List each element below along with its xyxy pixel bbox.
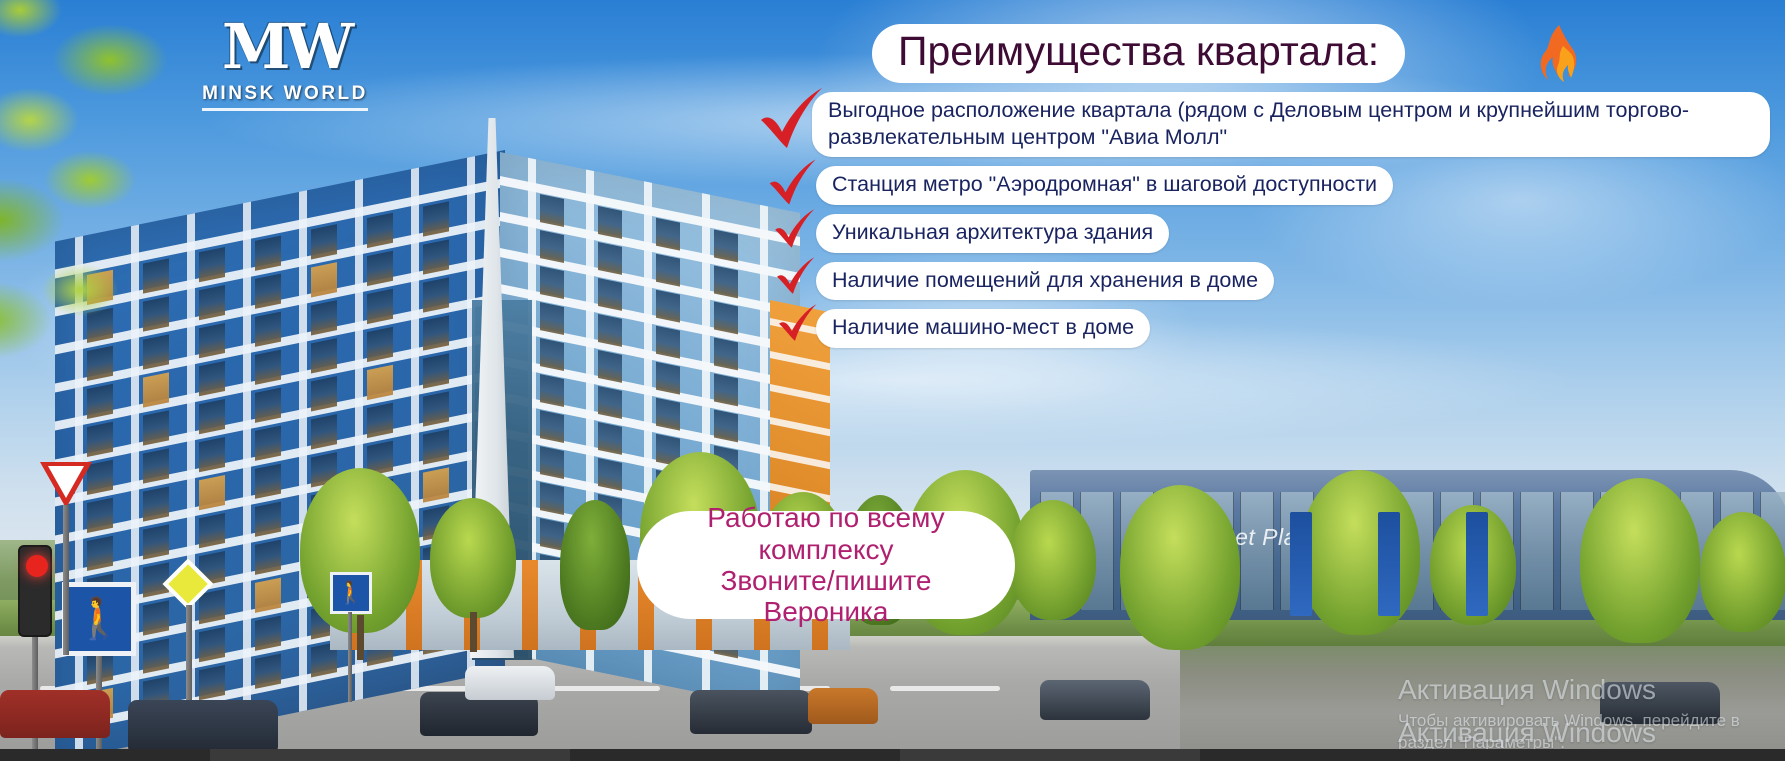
traffic-light (18, 545, 52, 637)
page-title: Преимущества квартала: (898, 28, 1379, 75)
bottom-edge-bar (0, 749, 1785, 761)
tree (1700, 512, 1785, 632)
tree (1300, 470, 1420, 635)
pedestrian-icon: 🚶 (337, 582, 364, 604)
checkmark-icon (774, 256, 818, 300)
road-marking (550, 686, 660, 691)
contact-card: Работаю по всему комплексу Звоните/пишит… (637, 511, 1015, 619)
contact-line-3: Вероника (764, 596, 889, 627)
bottom-bar-segment (900, 749, 1200, 761)
tree (560, 500, 630, 630)
list-item-label: Выгодное расположение квартала (рядом с … (812, 92, 1770, 157)
watermark-title: Активация Windows (1398, 672, 1785, 707)
car (465, 666, 555, 700)
watermark-title: Активация Windows (1398, 715, 1785, 750)
road-marking (890, 686, 1000, 691)
sign-pole (348, 612, 352, 702)
contact-line-2: Звоните/пишите (721, 565, 932, 596)
headline-pill: Преимущества квартала: (872, 24, 1405, 83)
tree (1580, 478, 1700, 643)
list-item: Уникальная архитектура здания (760, 214, 1770, 253)
tree-trunk (470, 612, 477, 652)
traffic-light-red-lamp (26, 555, 48, 577)
list-item: Выгодное расположение квартала (рядом с … (760, 92, 1770, 157)
pedestrian-crossing-sign: 🚶 (330, 572, 372, 614)
car (690, 690, 812, 734)
checkmark-icon (772, 208, 818, 254)
tree-trunk (357, 615, 364, 660)
bottom-bar-segment (210, 749, 570, 761)
logo-monogram: MW (200, 18, 370, 77)
list-item: Наличие машино-мест в доме (760, 309, 1770, 348)
tree (430, 498, 516, 618)
logo-wordmark: MINSK WORLD (202, 83, 368, 111)
pedestrian-crossing-sign: 🚶 (62, 582, 136, 656)
yield-sign-pole (63, 505, 69, 655)
list-item-label: Уникальная архитектура здания (816, 214, 1169, 253)
tree (1120, 485, 1240, 650)
street-banner (1466, 512, 1488, 616)
car (0, 690, 110, 738)
list-item: Станция метро "Аэродромная" в шаговой до… (760, 166, 1770, 205)
street-banner (1290, 512, 1312, 616)
car (1040, 680, 1150, 720)
tree (1010, 500, 1096, 620)
car (808, 688, 878, 724)
car (128, 700, 278, 752)
checkmark-icon (756, 86, 828, 158)
pedestrian-icon: 🚶 (74, 599, 124, 639)
checkmark-icon (776, 303, 820, 347)
brand-logo: MW MINSK WORLD (200, 18, 370, 111)
fire-icon (1534, 24, 1580, 88)
street-banner (1378, 512, 1400, 616)
list-item-label: Наличие машино-мест в доме (816, 309, 1150, 348)
list-item: Наличие помещений для хранения в доме (760, 262, 1770, 301)
yield-sign (40, 462, 92, 508)
list-item-label: Наличие помещений для хранения в доме (816, 262, 1274, 301)
contact-line-1: Работаю по всему комплексу (637, 502, 1015, 565)
promo-image: ry Planet Plaza 🚶 🚶 MW MINSK WOR (0, 0, 1785, 761)
list-item-label: Станция метро "Аэродромная" в шаговой до… (816, 166, 1393, 205)
advantages-list: Выгодное расположение квартала (рядом с … (760, 92, 1770, 357)
checkmark-icon (766, 158, 820, 212)
